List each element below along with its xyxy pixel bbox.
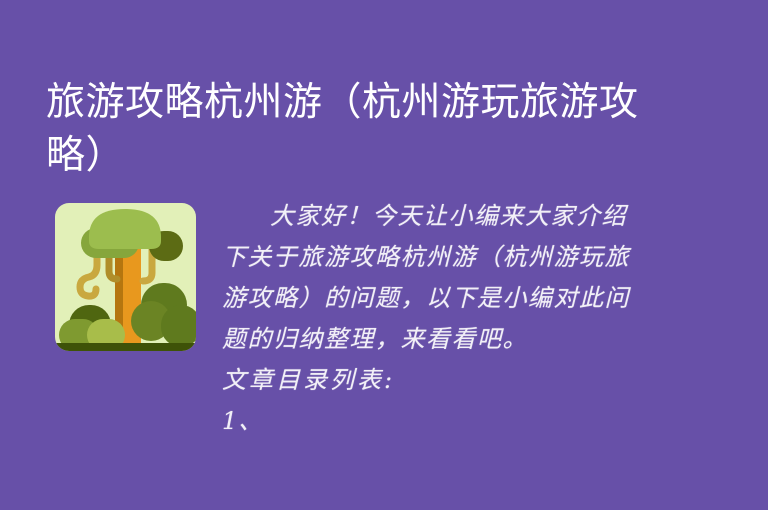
page-title: 旅游攻略杭州游（杭州游玩旅游攻略） <box>46 76 646 182</box>
bush-right-lower <box>161 305 198 347</box>
article-page: 旅游攻略杭州游（杭州游玩旅游攻略） <box>0 0 768 510</box>
jungle-tree-icon <box>53 201 198 353</box>
ground-strip <box>53 343 198 353</box>
article-thumbnail <box>53 201 198 353</box>
toc-heading: 文章目录列表: <box>222 360 647 401</box>
article-body: 大家好！今天让小编来大家介绍下关于旅游攻略杭州游（杭州游玩旅游攻略）的问题，以下… <box>222 196 652 442</box>
article-intro-paragraph: 大家好！今天让小编来大家介绍下关于旅游攻略杭州游（杭州游玩旅游攻略）的问题，以下… <box>222 196 647 360</box>
canopy-top-base <box>89 225 161 249</box>
article-content-row: 大家好！今天让小编来大家介绍下关于旅游攻略杭州游（杭州游玩旅游攻略）的问题，以下… <box>0 196 768 510</box>
toc-item-1: 1、 <box>222 401 647 442</box>
